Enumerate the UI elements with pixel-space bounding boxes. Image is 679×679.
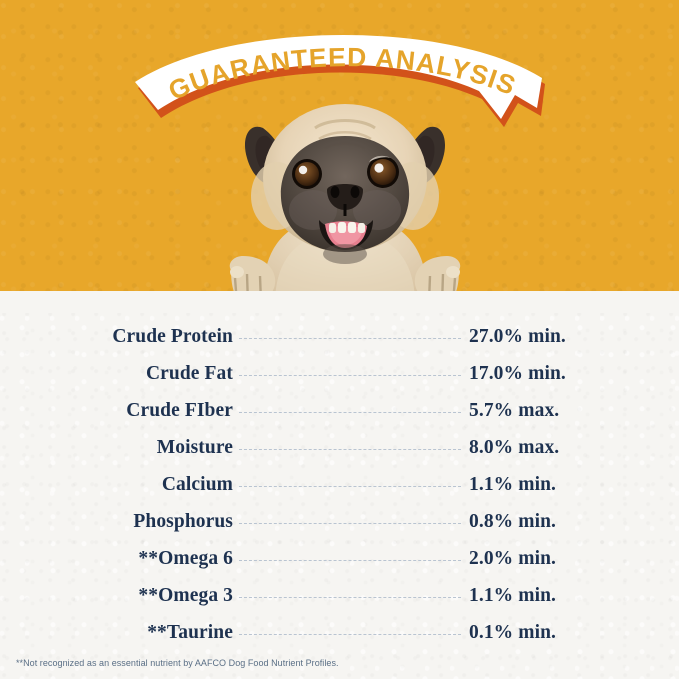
nutrient-label: **Omega 3 [0, 585, 233, 607]
table-row: **Taurine 0.1% min. [0, 614, 679, 651]
dot-leader [239, 486, 461, 487]
nutrient-label: Calcium [0, 474, 233, 496]
table-row: Crude Protein 27.0% min. [0, 318, 679, 355]
dot-leader [239, 449, 461, 450]
banner-ribbon: GUARANTEED ANALYSIS [133, 28, 551, 133]
nutrient-label: Phosphorus [0, 511, 233, 533]
nutrient-label: **Omega 6 [0, 548, 233, 570]
nutrient-label: Moisture [0, 437, 233, 459]
nutrient-value: 17.0% min. [469, 363, 566, 385]
nutrient-value: 8.0% max. [469, 437, 559, 459]
nutrient-label: Crude Protein [0, 326, 233, 348]
guaranteed-analysis-table: Crude Protein 27.0% min. Crude Fat 17.0%… [0, 318, 679, 651]
footnote-text: **Not recognized as an essential nutrien… [16, 658, 339, 668]
nutrient-value: 1.1% min. [469, 585, 556, 607]
nutrient-value: 1.1% min. [469, 474, 556, 496]
table-row: Moisture 8.0% max. [0, 429, 679, 466]
table-row: Phosphorus 0.8% min. [0, 503, 679, 540]
dot-leader [239, 338, 461, 339]
dot-leader [239, 412, 461, 413]
nutrient-label: Crude FIber [0, 400, 233, 422]
dot-leader [239, 375, 461, 376]
nutrient-label: **Taurine [0, 622, 233, 644]
dot-leader [239, 597, 461, 598]
nutrient-value: 0.8% min. [469, 511, 556, 533]
nutrient-value: 0.1% min. [469, 622, 556, 644]
nutrient-value: 2.0% min. [469, 548, 556, 570]
guaranteed-analysis-panel: GUARANTEED ANALYSIS Crude Protein 27.0% … [0, 0, 679, 679]
sheet-top-edge [0, 291, 679, 313]
table-row: Crude Fat 17.0% min. [0, 355, 679, 392]
table-row: Crude FIber 5.7% max. [0, 392, 679, 429]
table-row: Calcium 1.1% min. [0, 466, 679, 503]
dot-leader [239, 523, 461, 524]
dot-leader [239, 634, 461, 635]
table-row: **Omega 6 2.0% min. [0, 540, 679, 577]
nutrient-value: 27.0% min. [469, 326, 566, 348]
nutrient-label: Crude Fat [0, 363, 233, 385]
table-row: **Omega 3 1.1% min. [0, 577, 679, 614]
dot-leader [239, 560, 461, 561]
nutrient-value: 5.7% max. [469, 400, 559, 422]
